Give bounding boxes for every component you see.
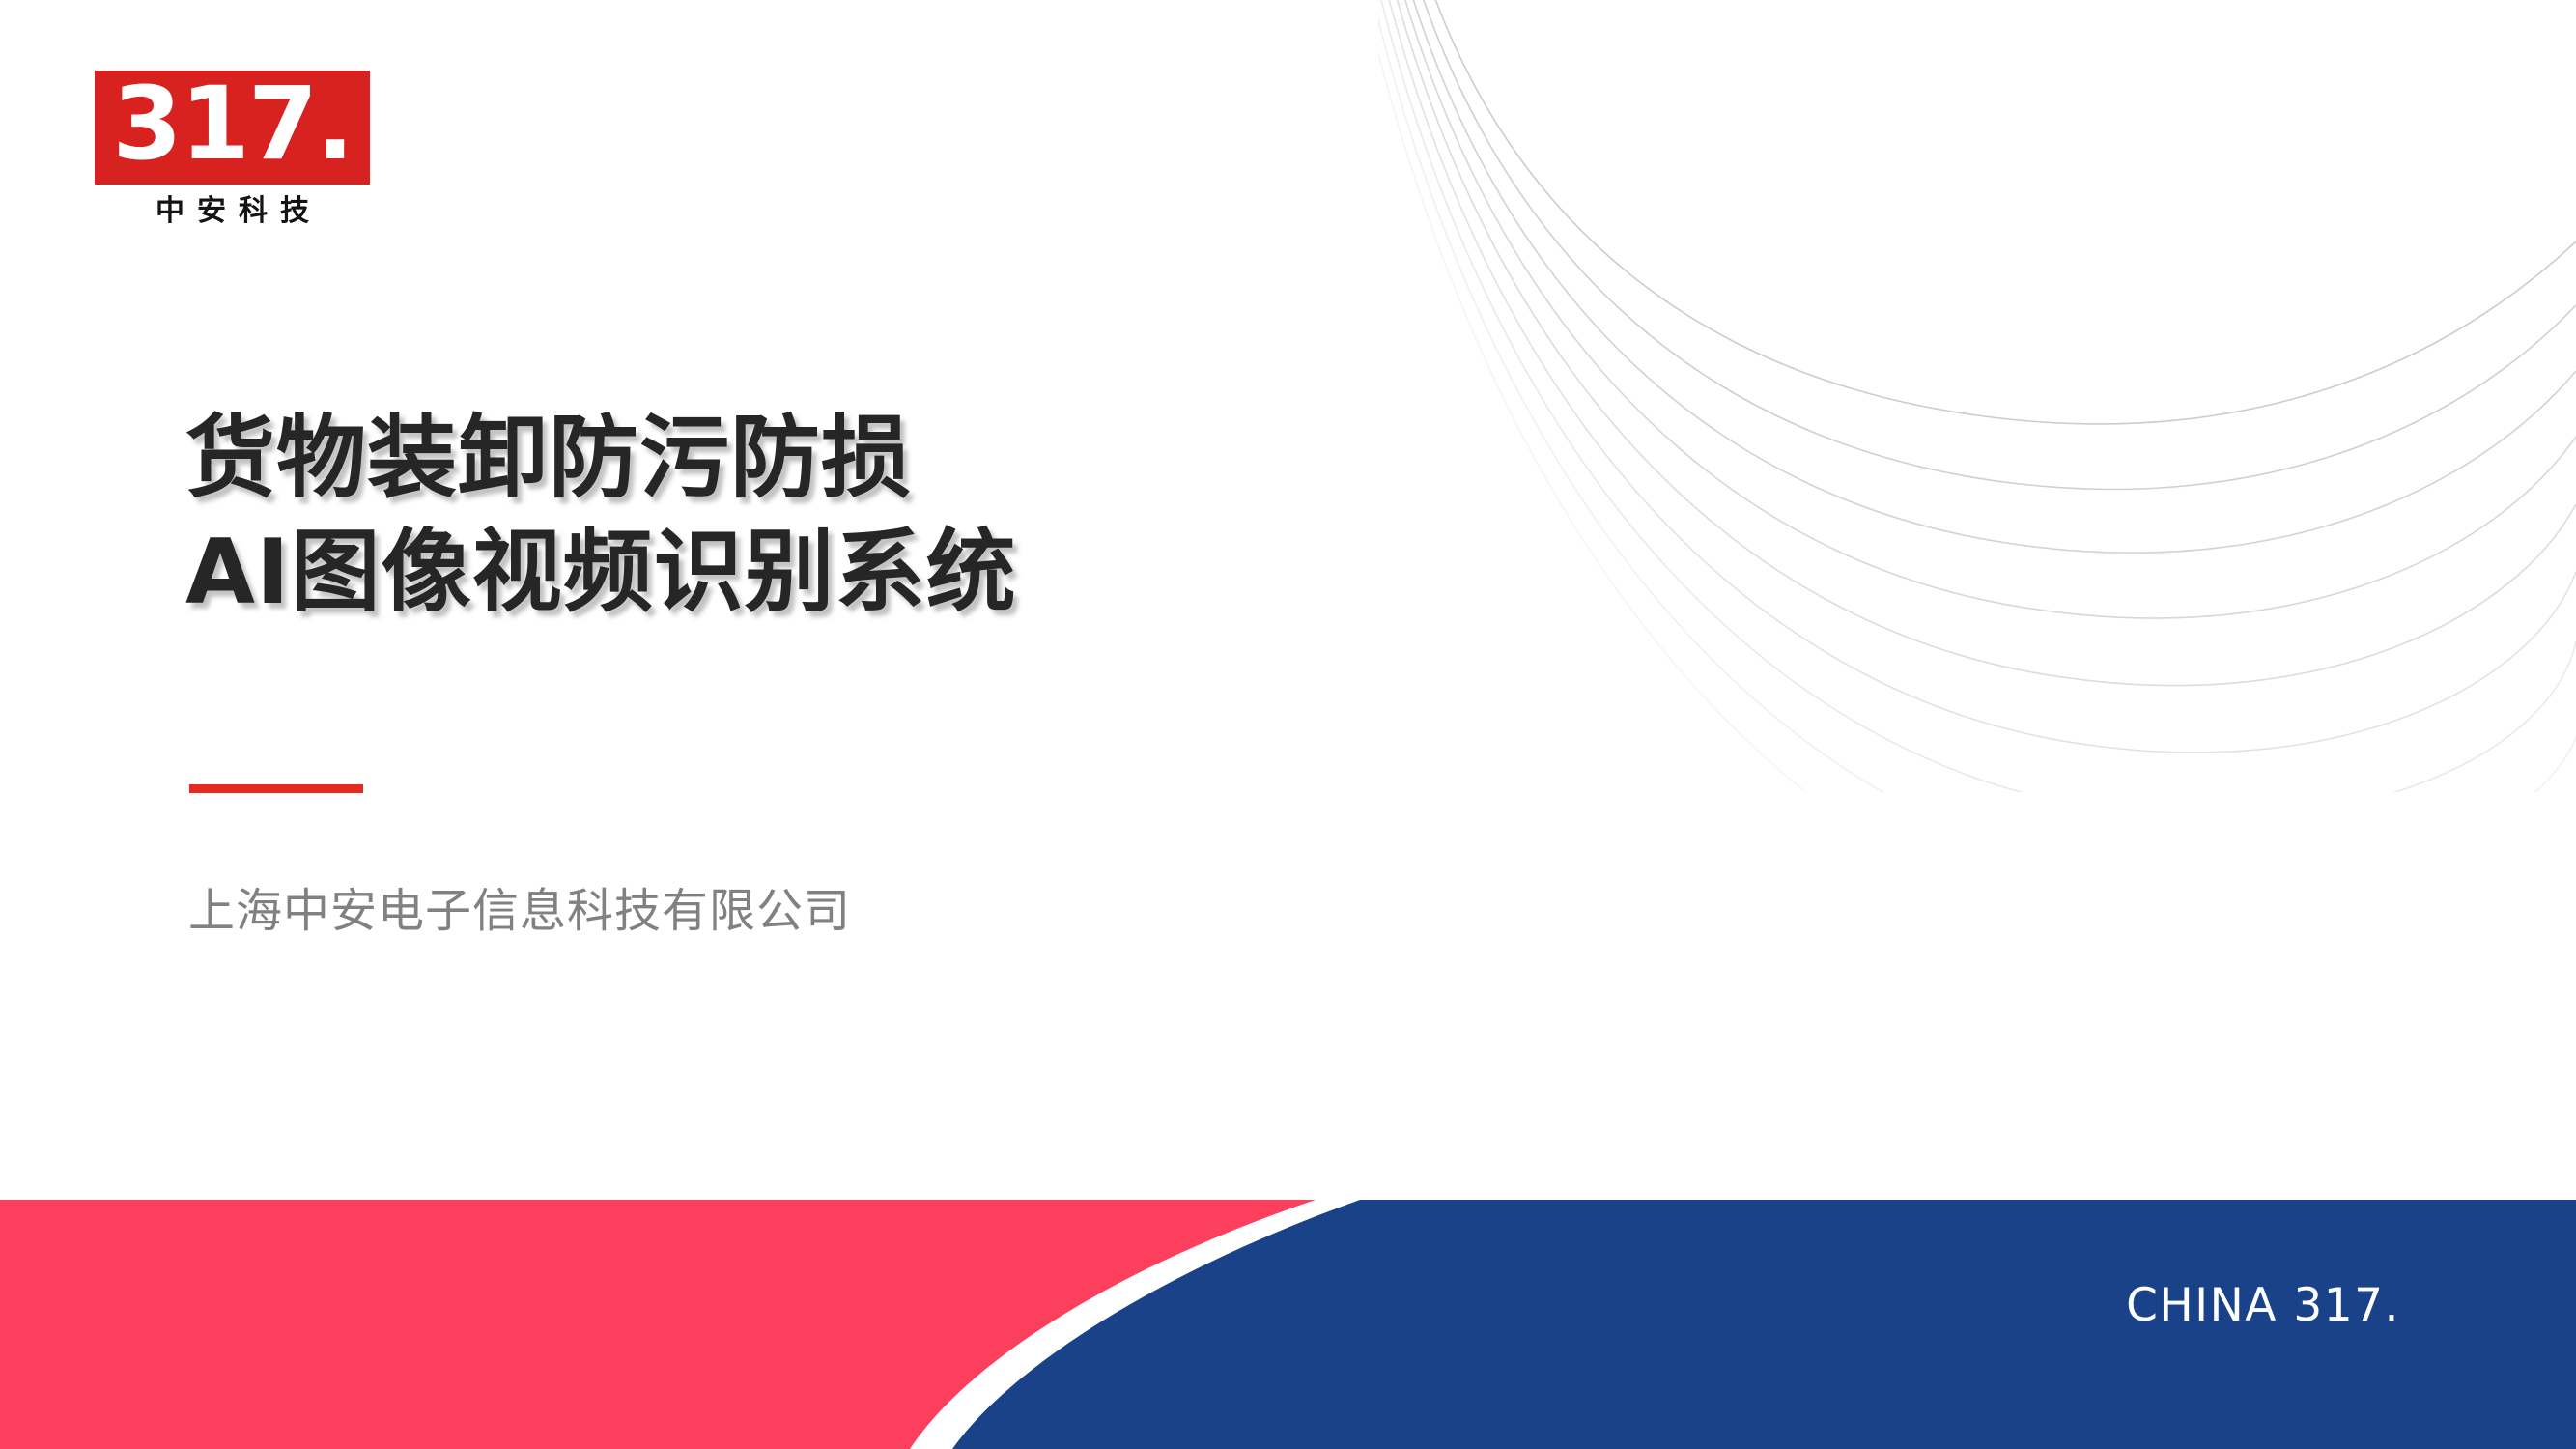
company-logo: 317. 中安科技 xyxy=(95,71,370,226)
company-name-subtitle: 上海中安电子信息科技有限公司 xyxy=(188,881,851,941)
banner-brand-label: CHINA 317. xyxy=(2126,1283,2400,1328)
swoosh-lines-svg xyxy=(1378,0,2576,792)
title-divider-rule xyxy=(189,784,363,793)
logo-mark-317: 317. xyxy=(95,71,370,185)
page-title-line-2: AI图像视频识别系统 xyxy=(185,515,1538,629)
logo-mark-text: 317. xyxy=(112,73,353,174)
swoosh-lines-decoration xyxy=(1378,0,2576,792)
title-slide: 317. 中安科技 货物装卸防污防损 AI图像视频识别系统 上海中安电子信息科技… xyxy=(0,0,2576,1449)
logo-subtext-zhongan-keji: 中安科技 xyxy=(95,197,370,226)
page-title-line-1: 货物装卸防污防损 xyxy=(185,401,1538,515)
bottom-banner: CHINA 317. xyxy=(0,1200,2576,1449)
page-title: 货物装卸防污防损 AI图像视频识别系统 xyxy=(185,401,1538,629)
